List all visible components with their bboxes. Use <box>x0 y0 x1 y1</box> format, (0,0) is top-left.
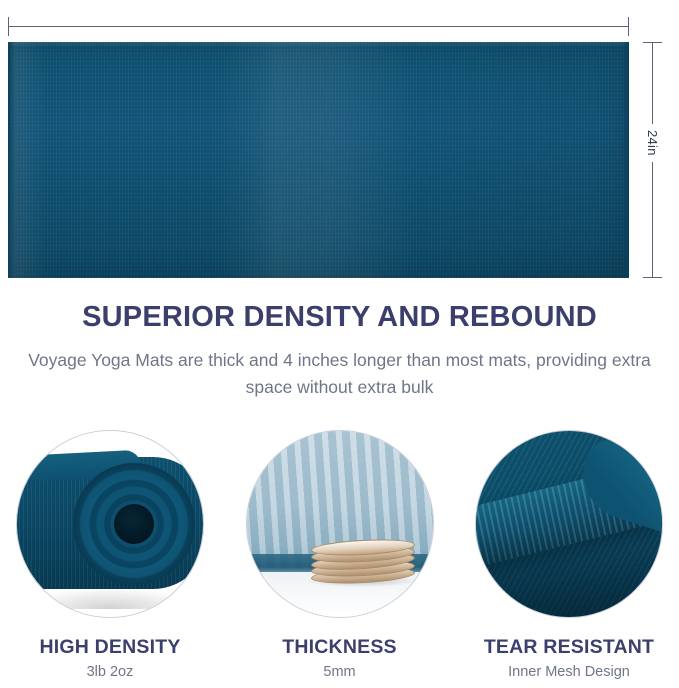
height-dimension-cap-top <box>643 42 662 43</box>
rolled-mat-core-hole <box>114 504 154 544</box>
yoga-mat-flat-image <box>8 42 629 278</box>
feature-title: THICKNESS <box>240 636 440 659</box>
product-hero: 72in 24in <box>0 0 679 290</box>
feature-subtitle: 5mm <box>240 664 440 680</box>
rolled-mat-shadow <box>17 587 203 609</box>
tear-vignette <box>476 531 662 617</box>
width-dimension-cap-left <box>8 17 9 36</box>
headline-subtitle: Voyage Yoga Mats are thick and 4 inches … <box>16 347 664 401</box>
width-dimension-cap-right <box>628 17 629 36</box>
feature-high-density: HIGH DENSITY 3lb 2oz <box>10 430 210 680</box>
headline-title: SUPERIOR DENSITY AND REBOUND <box>0 300 679 334</box>
width-dimension-line <box>8 26 629 27</box>
feature-title: TEAR RESISTANT <box>469 636 669 659</box>
thickness-image <box>246 430 434 618</box>
feature-title: HIGH DENSITY <box>10 636 210 659</box>
tear-resistant-image <box>475 430 663 618</box>
mat-right-edge <box>623 42 629 278</box>
headline-block: SUPERIOR DENSITY AND REBOUND Voyage Yoga… <box>0 300 679 401</box>
coin-stack <box>311 537 415 583</box>
mat-highlight <box>219 42 331 278</box>
height-dimension-label: 24in <box>645 124 660 162</box>
height-dimension-cap-bottom <box>643 277 662 278</box>
feature-tear-resistant: TEAR RESISTANT Inner Mesh Design <box>469 430 669 680</box>
mat-left-edge <box>8 42 15 278</box>
feature-subtitle: 3lb 2oz <box>10 664 210 680</box>
feature-thickness: THICKNESS 5mm <box>240 430 440 680</box>
feature-list: HIGH DENSITY 3lb 2oz THICKNESS 5mm <box>0 430 679 680</box>
high-density-image <box>16 430 204 618</box>
feature-subtitle: Inner Mesh Design <box>469 664 669 680</box>
